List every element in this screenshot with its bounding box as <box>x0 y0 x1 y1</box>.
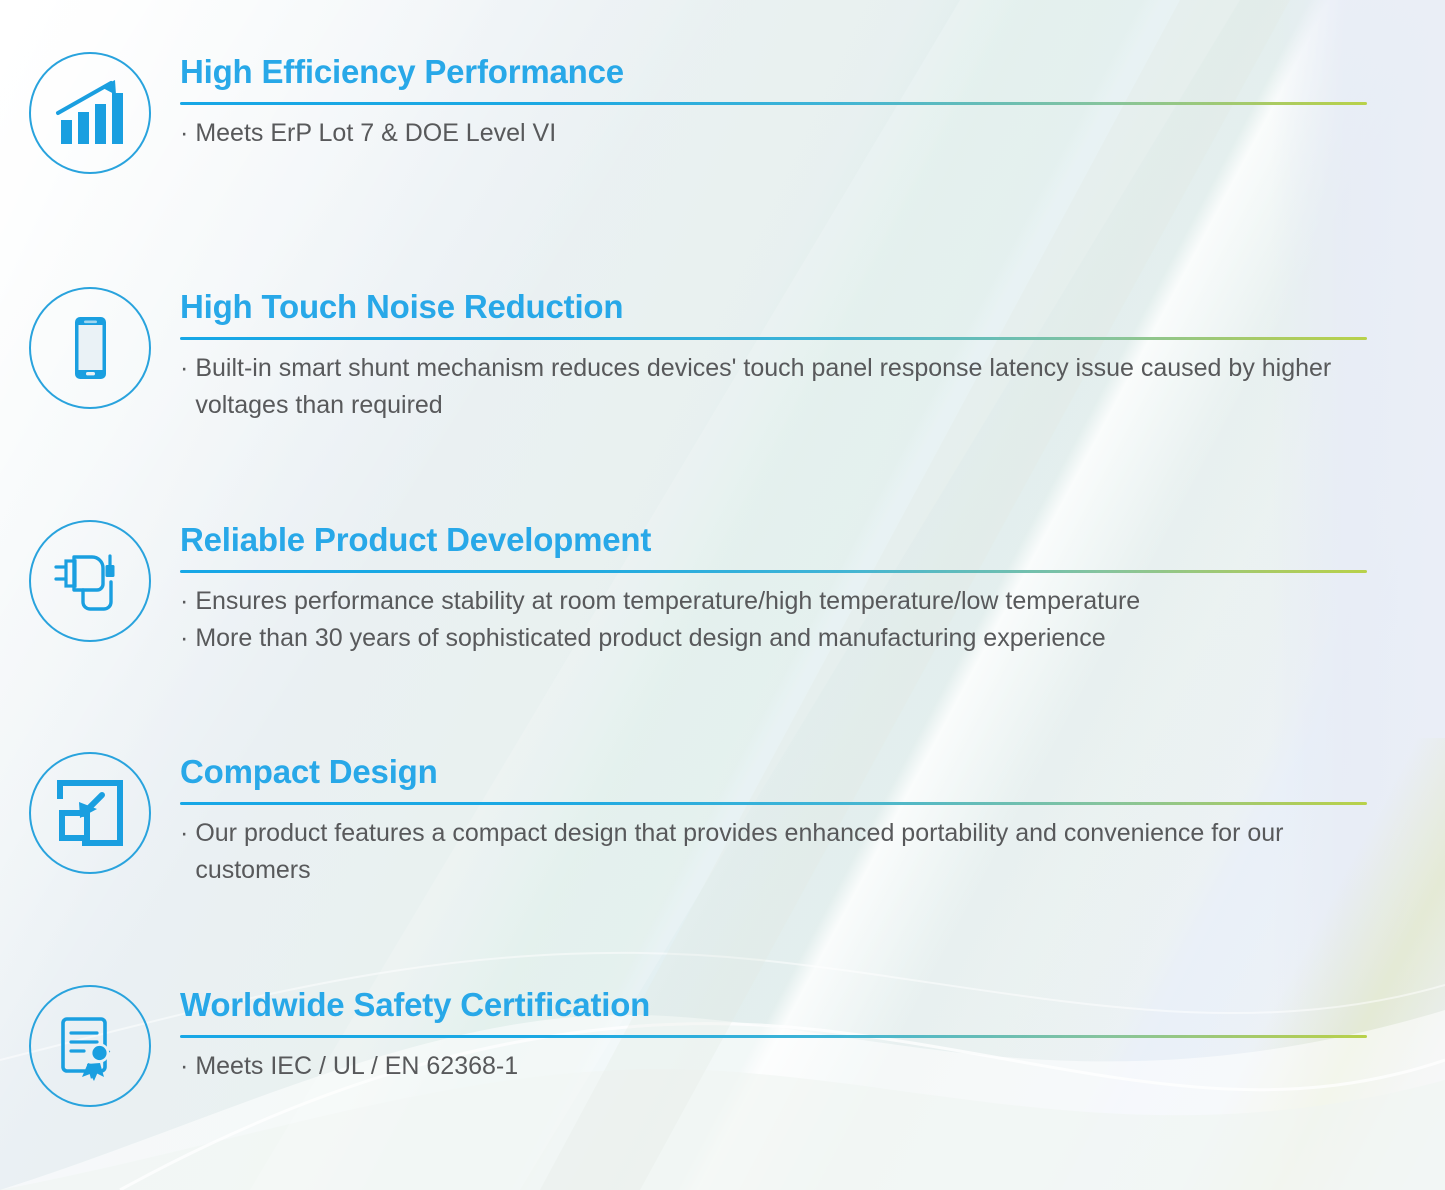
bullet-marker: · <box>180 350 188 387</box>
feature-title: Worldwide Safety Certification <box>180 987 1367 1023</box>
feature-icon-wrap <box>0 983 180 1107</box>
bullet-item: · Ensures performance stability at room … <box>180 583 1367 620</box>
feature-divider <box>180 1035 1367 1038</box>
feature-text-column: Reliable Product Development · Ensures p… <box>180 518 1445 657</box>
feature-icon-wrap <box>0 50 180 174</box>
feature-bullets: · Built-in smart shunt mechanism reduces… <box>180 350 1367 424</box>
smartphone-icon <box>53 311 127 385</box>
icon-circle <box>29 287 151 409</box>
bullet-marker: · <box>180 115 188 152</box>
feature-row-compact-design: Compact Design · Our product features a … <box>0 750 1445 889</box>
feature-divider <box>180 802 1367 805</box>
feature-bullets: · Our product features a compact design … <box>180 815 1367 889</box>
bullet-text: Our product features a compact design th… <box>195 815 1367 889</box>
bullet-text: Built-in smart shunt mechanism reduces d… <box>195 350 1367 424</box>
feature-text-column: Compact Design · Our product features a … <box>180 750 1445 889</box>
certificate-award-icon <box>55 1011 125 1081</box>
feature-title: High Touch Noise Reduction <box>180 289 1367 325</box>
bullet-item: · Built-in smart shunt mechanism reduces… <box>180 350 1367 424</box>
bullet-marker: · <box>180 815 188 852</box>
compact-resize-icon <box>56 779 124 847</box>
feature-title: High Efficiency Performance <box>180 54 1367 90</box>
feature-bullets: · Meets IEC / UL / EN 62368-1 <box>180 1048 1367 1085</box>
bullet-item: · Meets IEC / UL / EN 62368-1 <box>180 1048 1367 1085</box>
bullet-marker: · <box>180 1048 188 1085</box>
bullet-text: More than 30 years of sophisticated prod… <box>195 620 1367 657</box>
feature-row-high-touch-noise-reduction: High Touch Noise Reduction · Built-in sm… <box>0 285 1445 424</box>
bullet-marker: · <box>180 583 188 620</box>
feature-icon-wrap <box>0 750 180 874</box>
feature-title: Reliable Product Development <box>180 522 1367 558</box>
bar-chart-growth-icon <box>53 76 127 150</box>
feature-divider <box>180 570 1367 573</box>
feature-divider <box>180 337 1367 340</box>
icon-circle <box>29 752 151 874</box>
feature-divider <box>180 102 1367 105</box>
feature-text-column: High Efficiency Performance · Meets ErP … <box>180 50 1445 152</box>
feature-row-reliable-product-development: Reliable Product Development · Ensures p… <box>0 518 1445 657</box>
feature-bullets: · Ensures performance stability at room … <box>180 583 1367 657</box>
power-adapter-icon <box>52 543 128 619</box>
feature-text-column: Worldwide Safety Certification · Meets I… <box>180 983 1445 1085</box>
feature-row-high-efficiency-performance: High Efficiency Performance · Meets ErP … <box>0 50 1445 174</box>
bullet-item: · Meets ErP Lot 7 & DOE Level VI <box>180 115 1367 152</box>
icon-circle <box>29 52 151 174</box>
feature-icon-wrap <box>0 285 180 409</box>
feature-row-worldwide-safety-certification: Worldwide Safety Certification · Meets I… <box>0 983 1445 1107</box>
bullet-marker: · <box>180 620 188 657</box>
feature-title: Compact Design <box>180 754 1367 790</box>
bullet-item: · More than 30 years of sophisticated pr… <box>180 620 1367 657</box>
feature-bullets: · Meets ErP Lot 7 & DOE Level VI <box>180 115 1367 152</box>
feature-icon-wrap <box>0 518 180 642</box>
bullet-text: Meets IEC / UL / EN 62368-1 <box>195 1048 1367 1085</box>
bullet-item: · Our product features a compact design … <box>180 815 1367 889</box>
feature-text-column: High Touch Noise Reduction · Built-in sm… <box>180 285 1445 424</box>
bullet-text: Ensures performance stability at room te… <box>195 583 1367 620</box>
feature-highlights-page: High Efficiency Performance · Meets ErP … <box>0 0 1445 1190</box>
icon-circle <box>29 520 151 642</box>
bullet-text: Meets ErP Lot 7 & DOE Level VI <box>195 115 1367 152</box>
icon-circle <box>29 985 151 1107</box>
